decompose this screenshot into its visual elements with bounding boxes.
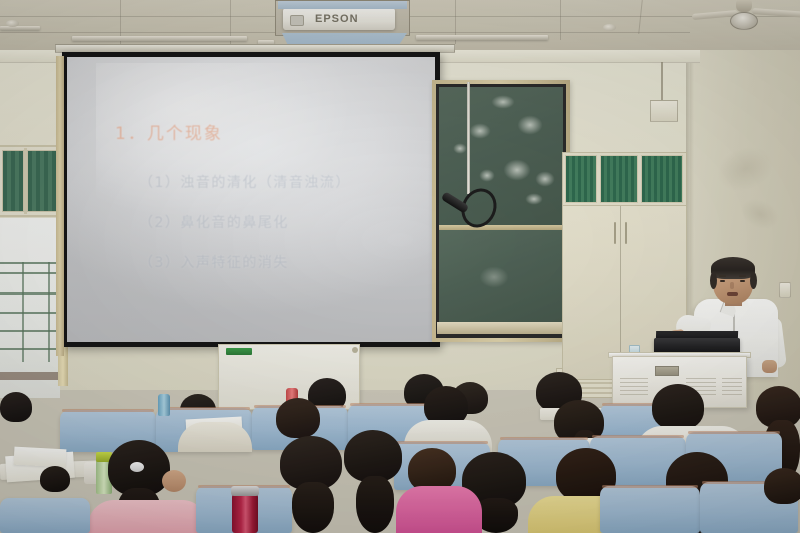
projector-mount-plate <box>278 1 407 9</box>
hair-tie <box>130 462 144 472</box>
fan-blade <box>752 8 800 18</box>
slide-bullet-3: （3）入声特征的消失 <box>139 252 435 272</box>
ceiling-light-fixture <box>0 26 40 30</box>
chalk-smudge <box>453 143 467 154</box>
ceiling-light-fixture <box>416 35 548 40</box>
cabinet-window-pane <box>641 155 683 203</box>
chalk-smudge <box>491 95 515 109</box>
whiteboard-clip <box>352 347 358 353</box>
student-head <box>652 384 704 430</box>
podium-vent-slats <box>722 378 742 395</box>
student-ponytail <box>356 476 394 533</box>
fan-hub <box>730 12 758 30</box>
railing-post <box>22 262 24 362</box>
chalkboard <box>432 80 570 342</box>
lecturer-eye <box>720 280 725 282</box>
notebook <box>14 447 67 468</box>
chalk-smudge <box>503 159 531 181</box>
chalk-smudge <box>525 193 543 205</box>
slide-title: 1．几个现象 <box>115 119 435 144</box>
cabinet-door-seam <box>620 206 621 376</box>
seat-trim <box>592 435 684 438</box>
lecturer-mouth <box>727 292 738 296</box>
student-hand <box>162 470 186 492</box>
ceiling-tile-seam <box>120 0 121 50</box>
lecturer-right-hand <box>762 360 777 373</box>
chalk-smudge <box>479 266 509 288</box>
cabinet-handle[interactable] <box>625 222 627 244</box>
lecturer-nose <box>730 282 734 289</box>
projection-screen: 1．几个现象 （1）浊音的清化（清音浊流） （2）鼻化音的鼻尾化 （3）入声特征… <box>62 52 440 347</box>
chalkboard-lower-panel <box>439 230 563 322</box>
wall-junction-box <box>650 100 678 122</box>
chalk-tray <box>437 322 565 334</box>
ceiling-tile-seam <box>560 0 561 40</box>
student-shoulders <box>178 422 252 452</box>
podium-vent-slats <box>620 378 648 395</box>
chalk-smudge <box>469 123 491 139</box>
light-switch[interactable] <box>779 282 791 298</box>
seat-trim <box>62 409 154 412</box>
seat[interactable] <box>600 486 700 533</box>
lecturer-hair <box>711 257 755 279</box>
window-pane <box>27 150 57 212</box>
slide-bullet-2: （2）鼻化音的鼻尾化 <box>139 212 435 232</box>
ceiling-fan <box>700 0 800 36</box>
cabinet-window-pane <box>565 155 597 203</box>
lecture-hall-photo: EPSON 1．几个现象 （1）浊音的清化（清音浊流） （2）鼻化音的鼻尾化 （… <box>0 0 800 533</box>
seat-trim <box>396 441 488 444</box>
open-window-view <box>0 218 60 398</box>
window-mullion <box>24 148 27 214</box>
podium-plaque <box>655 366 679 376</box>
chalk-smudge <box>517 115 543 135</box>
chalk-smudge <box>535 171 555 187</box>
lecturer-hair <box>750 272 757 289</box>
slide-bullet-1: （1）浊音的清化（清音浊流） <box>139 172 435 192</box>
thermos-cap[interactable] <box>231 486 259 496</box>
student-head <box>764 468 800 504</box>
conduit-wire <box>661 62 663 100</box>
seat-trim <box>688 431 780 434</box>
student-head <box>276 398 320 438</box>
slide-content: 1．几个现象 （1）浊音的清化（清音浊流） （2）鼻化音的鼻尾化 （3）入声特征… <box>67 57 435 342</box>
thermos[interactable] <box>232 494 258 533</box>
student-shoulders <box>88 500 208 533</box>
seat-trim <box>602 485 698 488</box>
cabinet-window-pane <box>600 155 638 203</box>
balcony-ledge <box>0 372 58 380</box>
seat[interactable] <box>0 498 90 533</box>
seat-trim <box>500 437 588 440</box>
projector-brand-label: EPSON <box>315 13 359 25</box>
fan-motor <box>736 0 752 12</box>
smoke-detector-icon <box>6 20 19 27</box>
student-head <box>40 466 70 492</box>
student-head <box>344 430 402 482</box>
chalkboard-inner-frame <box>436 84 566 338</box>
chalk-smudge <box>479 169 495 182</box>
projector-lens <box>290 15 304 26</box>
lecturer-eyebrow <box>739 275 746 277</box>
screen-side-trim <box>56 56 64 356</box>
lecturer-eye <box>740 280 745 282</box>
cabinet-handle[interactable] <box>614 222 616 244</box>
whiteboard-label <box>226 348 252 355</box>
seat-trim <box>158 407 250 410</box>
ceiling-light-fixture <box>72 36 247 41</box>
smoke-detector-icon <box>603 24 616 31</box>
student-head <box>0 392 32 422</box>
railing-post <box>48 262 50 362</box>
pointer-cord <box>467 82 470 194</box>
lecturer-eyebrow <box>719 275 726 277</box>
lecturer-hair <box>710 272 717 289</box>
student-shoulders <box>396 486 482 533</box>
screen-surface: 1．几个现象 （1）浊音的清化（清音浊流） （2）鼻化音的鼻尾化 （3）入声特征… <box>67 57 435 342</box>
window-pane <box>2 150 24 212</box>
student-ponytail <box>292 482 334 533</box>
water-bottle[interactable] <box>158 394 170 416</box>
